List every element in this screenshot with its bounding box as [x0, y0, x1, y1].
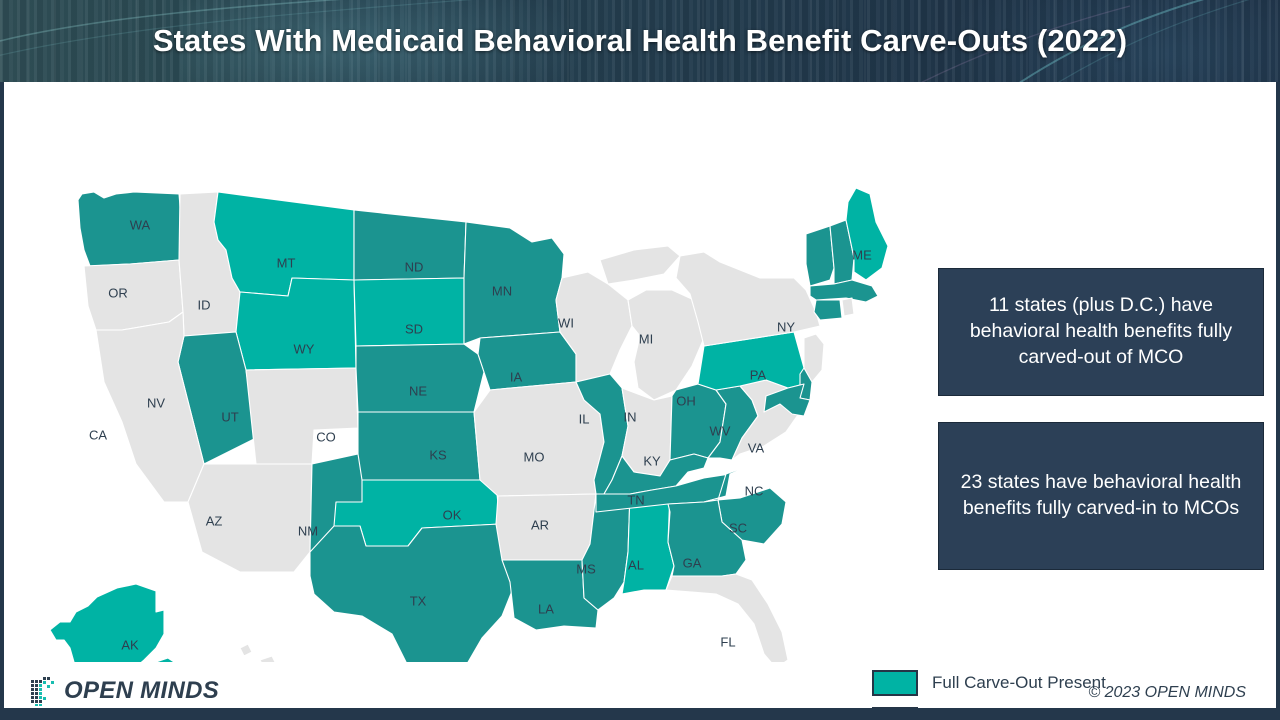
open-minds-wordmark: OPEN MINDS: [64, 677, 219, 705]
state-ia[interactable]: [478, 332, 576, 390]
state-label-fl: FL: [720, 634, 735, 649]
slide-frame-bottom: [0, 708, 1280, 720]
page-title: States With Medicaid Behavioral Health B…: [0, 0, 1280, 82]
slide: States With Medicaid Behavioral Health B…: [0, 0, 1280, 720]
state-ri[interactable]: [842, 298, 854, 316]
state-or[interactable]: [84, 260, 183, 330]
callout-carve-in: 23 states have behavioral health benefit…: [938, 422, 1264, 570]
state-hi[interactable]: [240, 644, 334, 662]
state-ne[interactable]: [356, 344, 484, 412]
state-az[interactable]: [188, 464, 312, 572]
slide-body: WA OR ID MT WY NV UT CA AZ CO NM ND SD N…: [4, 82, 1276, 708]
state-sd[interactable]: [354, 278, 464, 346]
open-minds-logo[interactable]: OPEN MINDS: [30, 676, 219, 706]
slide-header: States With Medicaid Behavioral Health B…: [0, 0, 1280, 82]
state-tx[interactable]: [310, 524, 514, 662]
state-fl[interactable]: [666, 574, 788, 662]
legend-swatch-carve-out: [872, 670, 918, 696]
state-in[interactable]: [622, 388, 672, 476]
callout-carve-out: 11 states (plus D.C.) have behavioral he…: [938, 268, 1264, 396]
state-ks[interactable]: [358, 412, 480, 480]
copyright-text: © 2023 OPEN MINDS: [1088, 684, 1246, 702]
us-choropleth-map[interactable]: WA OR ID MT WY NV UT CA AZ CO NM ND SD N…: [4, 82, 904, 662]
state-vt[interactable]: [806, 226, 834, 286]
legend-label-carve-out: Full Carve-Out Present: [932, 673, 1106, 693]
state-mn[interactable]: [464, 222, 564, 344]
state-wa[interactable]: [78, 192, 182, 266]
state-ar[interactable]: [496, 494, 596, 560]
state-ak[interactable]: [44, 584, 190, 662]
map-svg: WA OR ID MT WY NV UT CA AZ CO NM ND SD N…: [4, 82, 904, 662]
state-ut[interactable]: [246, 368, 358, 464]
open-minds-mark-icon: [30, 676, 60, 706]
state-nd[interactable]: [354, 210, 466, 280]
state-label-ca: CA: [89, 427, 107, 442]
state-ct[interactable]: [814, 300, 842, 320]
slide-frame-right: [1276, 82, 1280, 720]
state-label-co: CO: [316, 429, 336, 444]
